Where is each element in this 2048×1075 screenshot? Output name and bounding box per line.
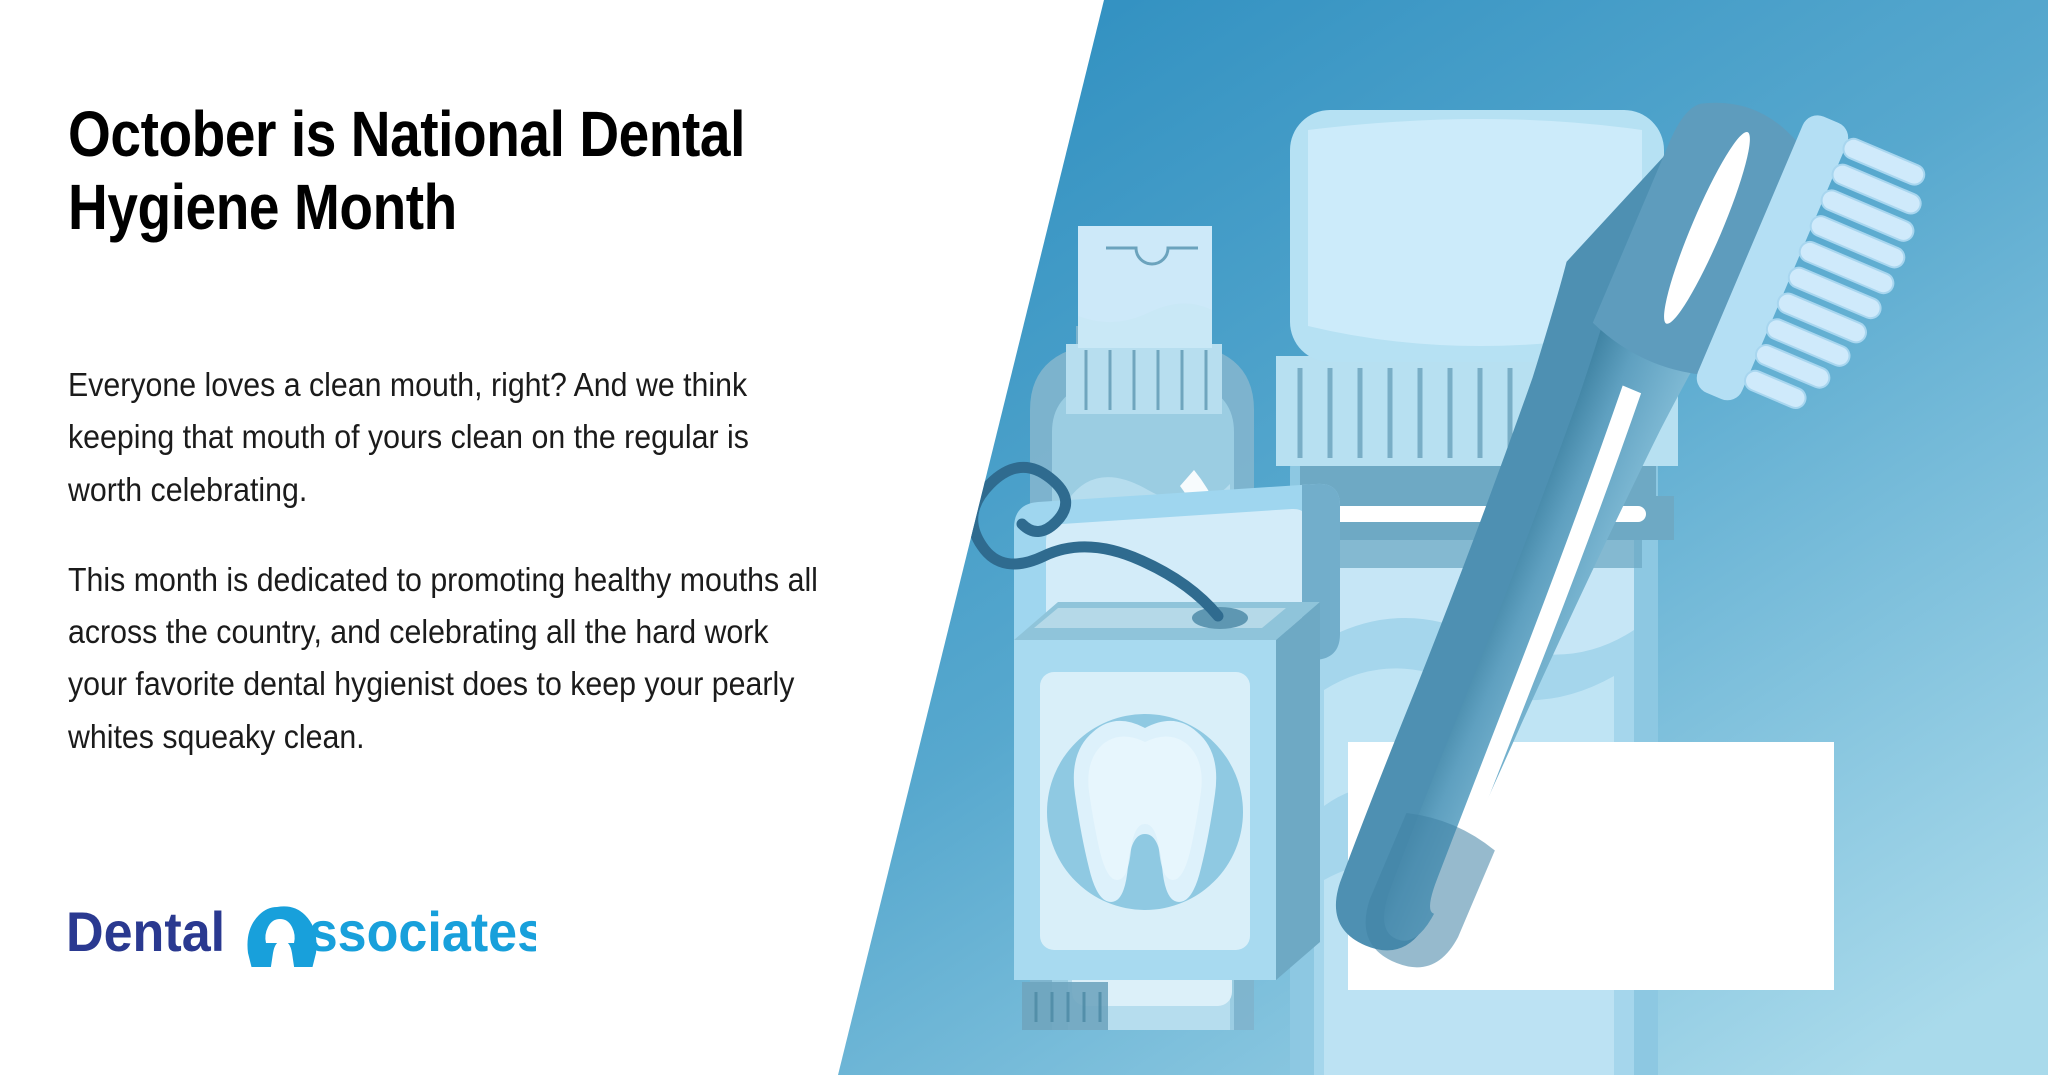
body-copy: Everyone loves a clean mouth, right? And… [68, 360, 898, 764]
headline-line-1: October is National Dental [68, 98, 859, 171]
tooth-shaped-letter-a-icon [247, 906, 316, 967]
illustration-panel [838, 0, 2048, 1075]
logo-word-dental: Dental [66, 901, 225, 963]
text-panel: October is National Dental Hygiene Month… [0, 0, 1010, 1075]
page-title: October is National Dental Hygiene Month [68, 98, 859, 244]
logo-word-associates: ssociates [309, 901, 536, 963]
paragraph-2: This month is dedicated to promoting hea… [68, 555, 819, 764]
headline-line-2: Hygiene Month [68, 171, 859, 244]
dental-floss-box [973, 467, 1340, 980]
logo-svg: Dental ssociates [66, 899, 536, 967]
dental-hygiene-banner: October is National Dental Hygiene Month… [0, 0, 2048, 1075]
dental-associates-logo[interactable]: Dental ssociates [66, 905, 536, 967]
paragraph-1: Everyone loves a clean mouth, right? And… [68, 360, 819, 517]
